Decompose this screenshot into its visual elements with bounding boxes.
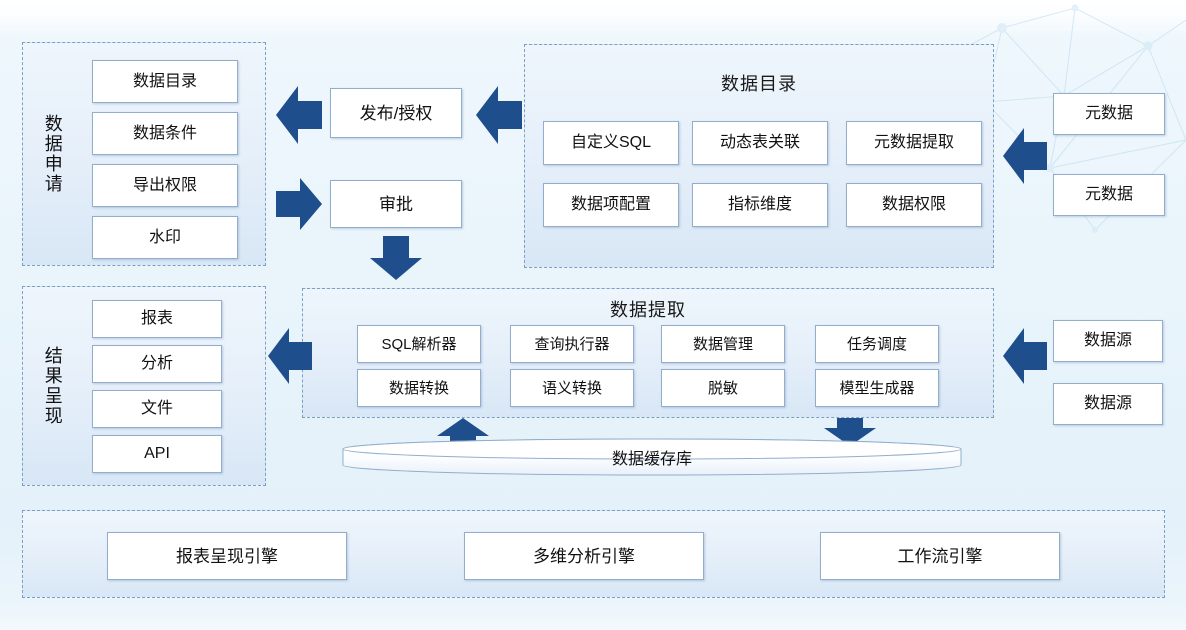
result-presentation-panel-label: 结果呈现	[30, 296, 74, 476]
datasource-box-1[interactable]: 数据源	[1053, 320, 1163, 362]
metadata-to-catalog-arrow	[1003, 128, 1047, 184]
approve-box[interactable]: 审批	[330, 180, 462, 228]
catalog-item-metadata-extract[interactable]: 元数据提取	[846, 121, 982, 165]
publish-authorize-box[interactable]: 发布/授权	[330, 88, 462, 138]
extract-item-desensitization[interactable]: 脱敏	[661, 369, 785, 407]
data-cache-database-label: 数据缓存库	[342, 445, 962, 469]
engine-multidimensional-analysis[interactable]: 多维分析引擎	[464, 532, 704, 580]
extract-item-query-executor[interactable]: 查询执行器	[510, 325, 634, 363]
catalog-item-metric-dimension[interactable]: 指标维度	[692, 183, 828, 227]
extract-to-result-arrow	[268, 328, 312, 384]
extract-item-model-generator[interactable]: 模型生成器	[815, 369, 939, 407]
extract-item-task-scheduling[interactable]: 任务调度	[815, 325, 939, 363]
engine-report-presentation[interactable]: 报表呈现引擎	[107, 532, 347, 580]
engine-workflow[interactable]: 工作流引擎	[820, 532, 1060, 580]
datasource-to-extract-arrow	[1003, 328, 1047, 384]
catalog-item-data-permission[interactable]: 数据权限	[846, 183, 982, 227]
catalog-item-dynamic-table-relation[interactable]: 动态表关联	[692, 121, 828, 165]
result-item-report[interactable]: 报表	[92, 300, 222, 338]
extract-item-sql-parser[interactable]: SQL解析器	[357, 325, 481, 363]
metadata-box-1[interactable]: 元数据	[1053, 93, 1165, 135]
approve-to-extract-arrow	[370, 236, 422, 280]
publish-to-request-arrow	[276, 86, 322, 144]
result-item-analysis[interactable]: 分析	[92, 345, 222, 383]
result-item-file[interactable]: 文件	[92, 390, 222, 428]
extract-item-data-transform[interactable]: 数据转换	[357, 369, 481, 407]
data-catalog-panel-title: 数据目录	[524, 70, 994, 96]
diagram-canvas: 数据申请 数据目录 数据条件 导出权限 水印 结果呈现 报表 分析 文件 API…	[0, 0, 1186, 630]
extract-item-semantic-transform[interactable]: 语义转换	[510, 369, 634, 407]
request-item-catalog[interactable]: 数据目录	[92, 60, 238, 103]
result-item-api[interactable]: API	[92, 435, 222, 473]
catalog-item-data-field-config[interactable]: 数据项配置	[543, 183, 679, 227]
request-item-watermark[interactable]: 水印	[92, 216, 238, 259]
datasource-box-2[interactable]: 数据源	[1053, 383, 1163, 425]
extract-item-data-management[interactable]: 数据管理	[661, 325, 785, 363]
data-cache-database[interactable]: 数据缓存库	[342, 438, 962, 476]
request-item-conditions[interactable]: 数据条件	[92, 112, 238, 155]
request-item-export-permission[interactable]: 导出权限	[92, 164, 238, 207]
data-extract-panel-title: 数据提取	[302, 296, 994, 322]
catalog-to-publish-arrow	[476, 86, 522, 144]
request-to-approve-arrow	[276, 178, 322, 230]
data-request-panel-label: 数据申请	[30, 52, 74, 256]
metadata-box-2[interactable]: 元数据	[1053, 174, 1165, 216]
catalog-item-custom-sql[interactable]: 自定义SQL	[543, 121, 679, 165]
